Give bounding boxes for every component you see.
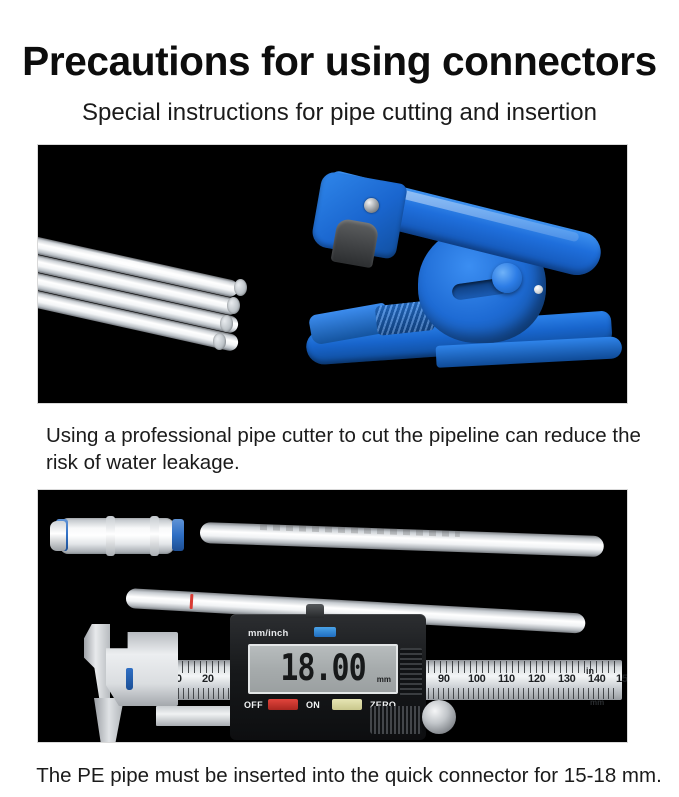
off-button[interactable]: OFF: [244, 700, 263, 710]
cutter-blade-screw: [364, 198, 379, 213]
caliper-tick-label: 120: [528, 673, 545, 685]
digital-vernier-caliper: 0 10 20 90 100 110 120 130 140 150 in mm: [70, 614, 626, 742]
pipe-cut-end: [234, 279, 247, 296]
zero-button-yellow[interactable]: [332, 699, 362, 710]
product-infographic-page: Precautions for using connectors Special…: [0, 0, 679, 797]
caliper-display-value: 18.00: [280, 651, 365, 688]
caliper-tick-label: 20: [202, 673, 214, 685]
caliper-blue-pointer: [126, 668, 133, 690]
connector-end-cap: [50, 521, 66, 551]
caliper-tick-label: 150: [616, 673, 627, 685]
caliper-mm-inch-label: mm/inch: [248, 628, 288, 639]
pipe-cutter-photo-content: [38, 145, 627, 403]
connector-ring: [106, 516, 115, 556]
pipe-cut-end: [227, 297, 240, 314]
mm-inch-toggle-button[interactable]: [314, 627, 336, 637]
caliper-depth-bar: [156, 706, 232, 726]
caliper-tick-label: 110: [498, 673, 515, 685]
blue-pipe-cutter-tool: [306, 163, 626, 393]
caliper-mm-unit-label: mm: [590, 698, 604, 707]
caliper-tick-label: 100: [468, 673, 485, 685]
on-button[interactable]: ON: [306, 700, 320, 710]
cutter-blade: [330, 218, 379, 269]
pipe-cut-end: [220, 315, 233, 332]
pipe-cut-end: [213, 333, 226, 350]
pipe-cutter-photo: [38, 145, 627, 403]
caption-pipe-insertion: The PE pipe must be inserted into the qu…: [24, 762, 674, 789]
caliper-photo-content: 0 10 20 90 100 110 120 130 140 150 in mm: [38, 490, 627, 742]
cutter-pivot-knob: [492, 263, 522, 293]
caliper-tick-label: 130: [558, 673, 575, 685]
connector-ring: [150, 516, 159, 556]
caliper-measurement-photo: 0 10 20 90 100 110 120 130 140 150 in mm: [38, 490, 627, 742]
caliper-battery-nub: [306, 604, 324, 618]
caliper-tick-label: 90: [438, 673, 450, 685]
caliper-lcd-screen: 18.00 mm: [248, 644, 398, 694]
caliper-slider[interactable]: [106, 632, 178, 706]
caliper-housing-vents: [400, 648, 422, 696]
power-button-red[interactable]: [268, 699, 298, 710]
caliper-inch-unit-label: in: [586, 666, 594, 676]
page-title: Precautions for using connectors: [3, 38, 675, 84]
caliper-knurled-grip: [370, 706, 422, 734]
white-quick-connector-union: [50, 504, 610, 564]
page-subtitle: Special instructions for pipe cutting an…: [0, 98, 679, 128]
white-pe-pipe-bundle: [38, 233, 278, 363]
connector-collet: [172, 519, 184, 551]
caliper-display-unit: mm: [377, 675, 391, 684]
caliper-thumbwheel[interactable]: [422, 700, 456, 734]
cutter-rivet: [534, 285, 543, 294]
caption-pipe-cutting: Using a professional pipe cutter to cut …: [46, 422, 646, 476]
